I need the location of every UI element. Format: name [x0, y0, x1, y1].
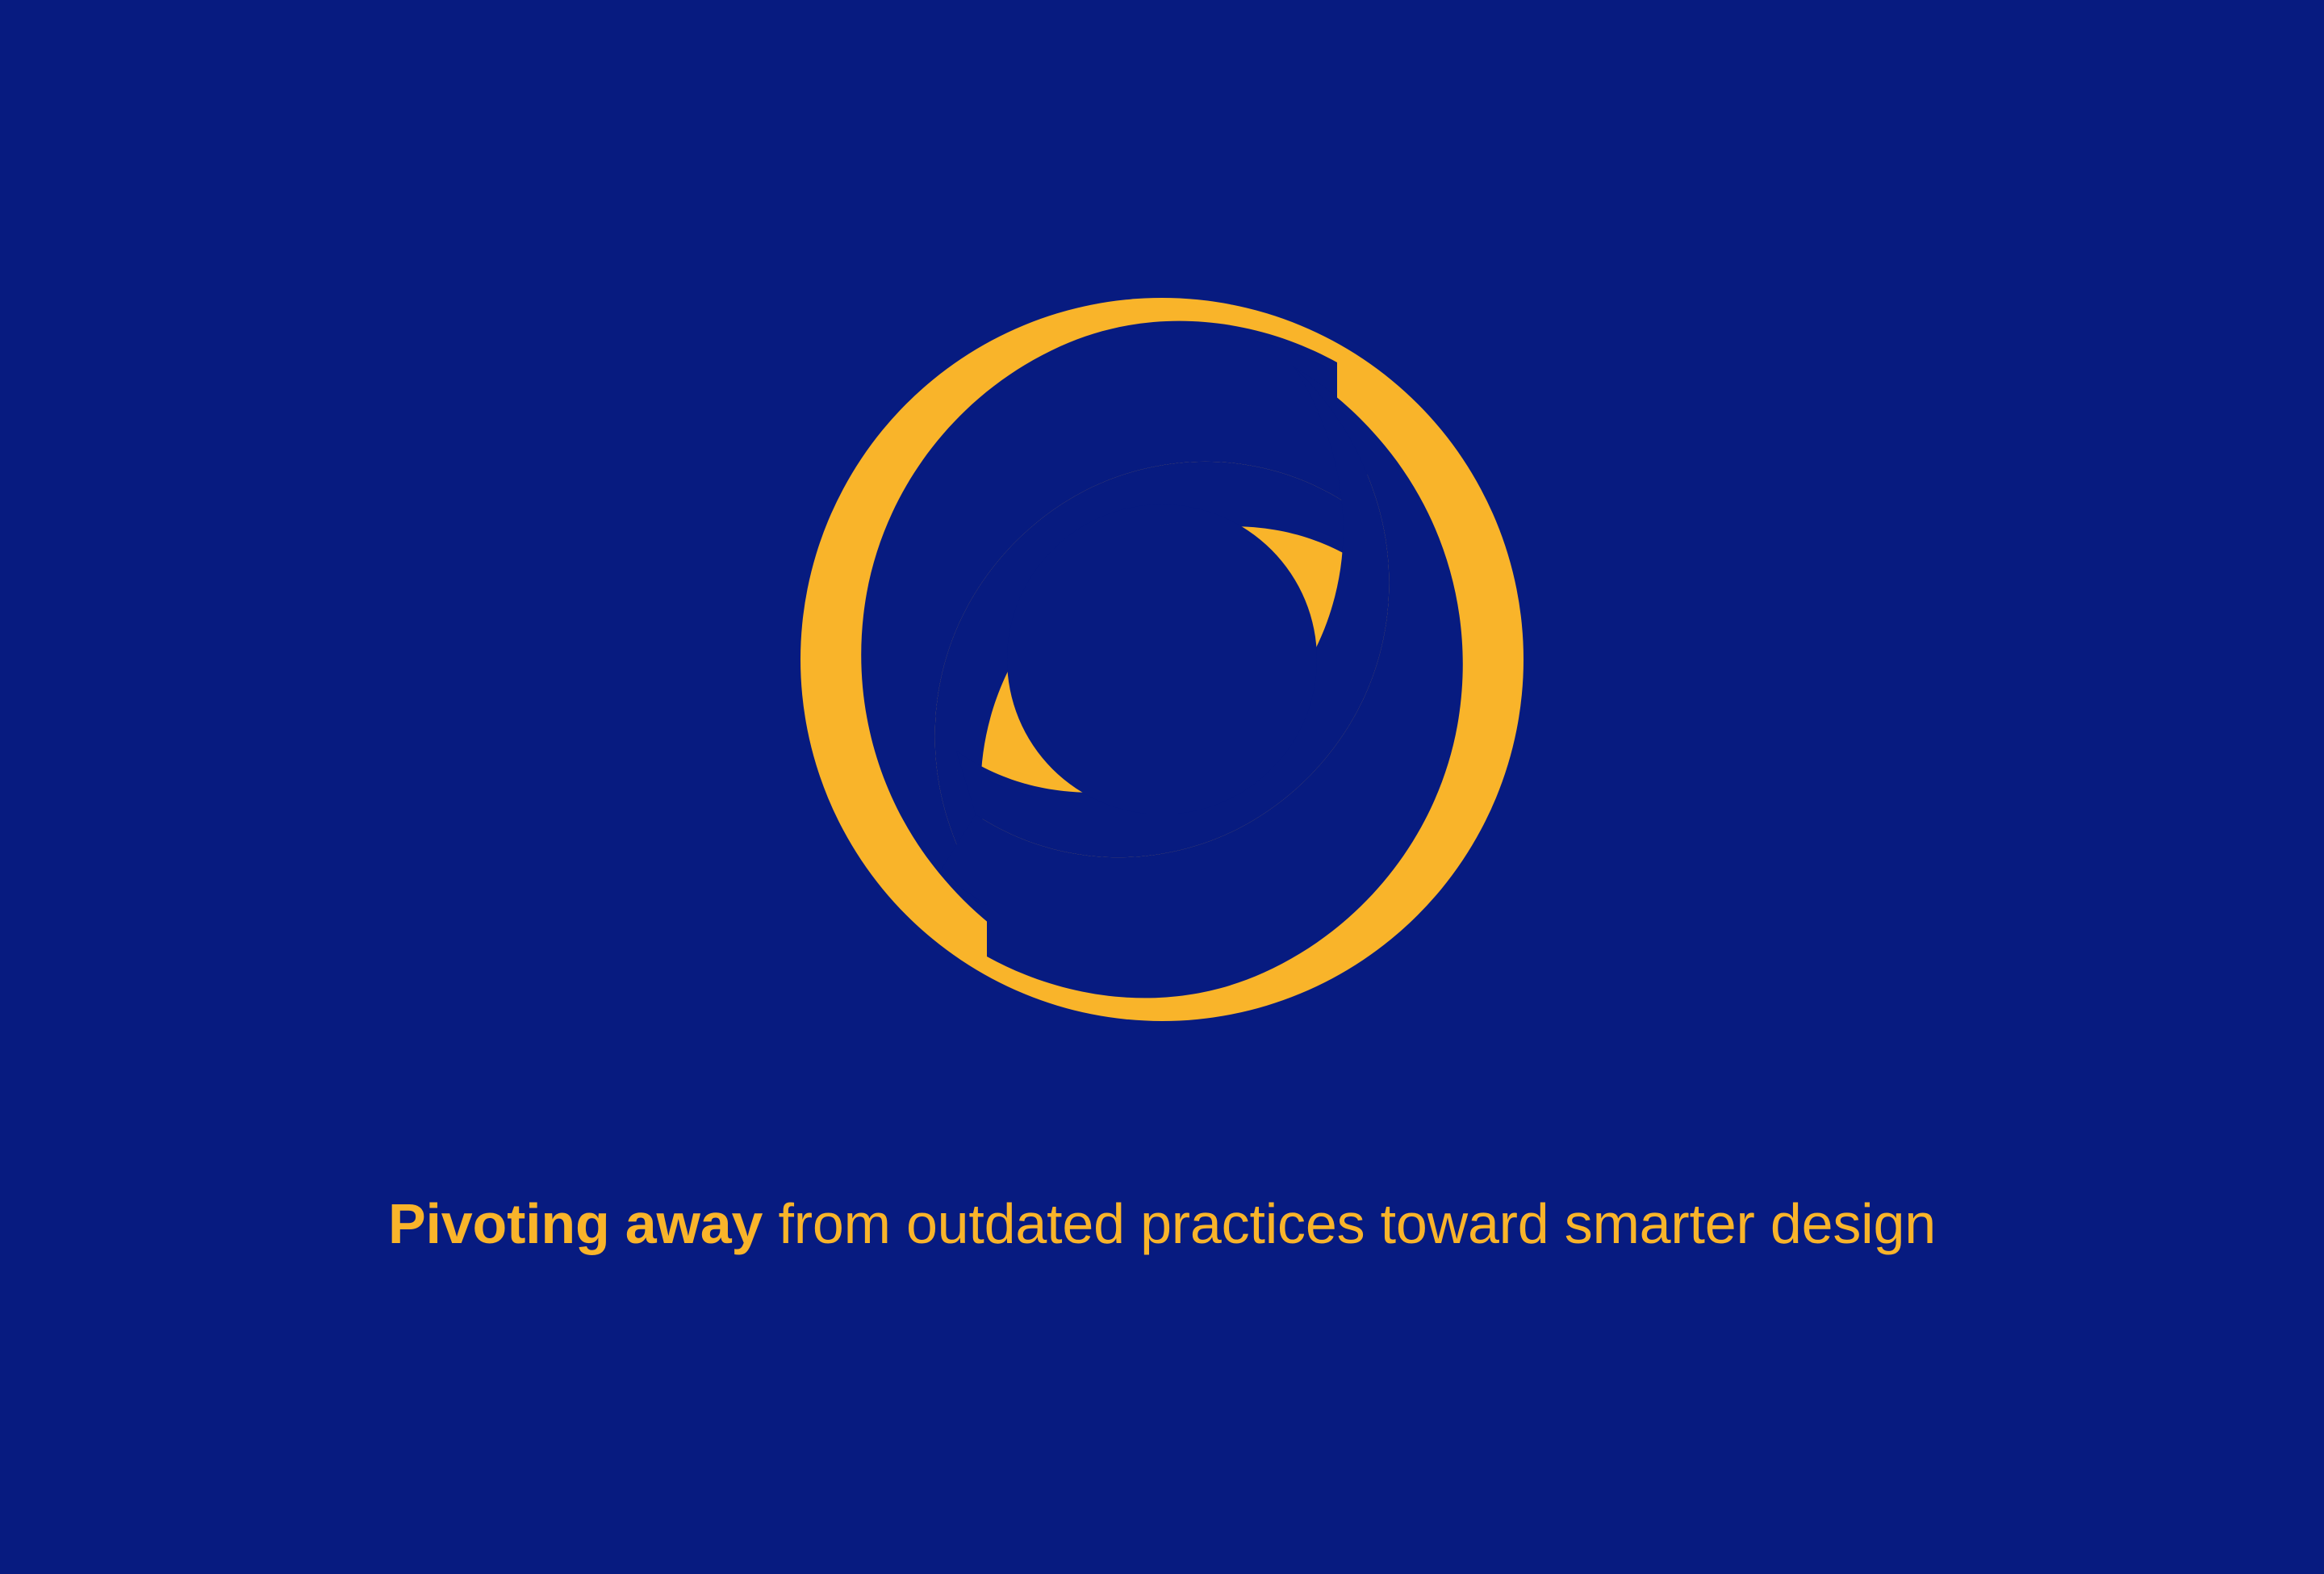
- caption-rest: from outdated practices toward smarter d…: [763, 1192, 1936, 1255]
- slide-canvas: Pivoting away from outdated practices to…: [0, 0, 2324, 1574]
- spiral-vortex-logo: [800, 298, 1524, 1021]
- caption-text: Pivoting away from outdated practices to…: [0, 1187, 2324, 1261]
- caption-lead: Pivoting away: [388, 1192, 763, 1255]
- logo-container: [0, 0, 2324, 1574]
- logo-inner-core: [1007, 504, 1317, 814]
